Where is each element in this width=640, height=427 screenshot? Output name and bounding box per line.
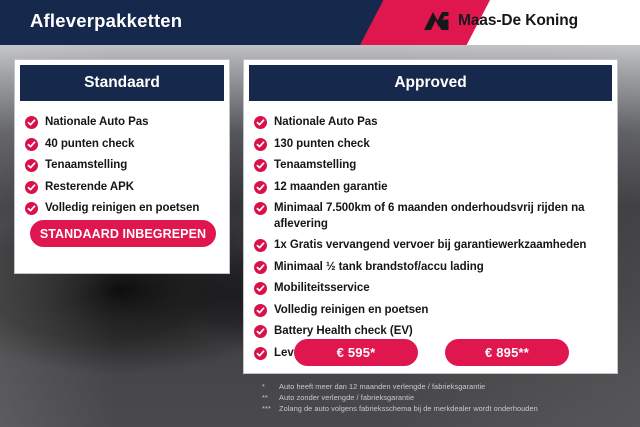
check-circle-icon bbox=[254, 202, 267, 215]
list-item: Minimaal ½ tank brandstof/accu lading bbox=[254, 260, 607, 276]
check-circle-icon bbox=[25, 181, 38, 194]
footnote-text: Auto heeft meer dan 12 maanden verlengde… bbox=[279, 381, 634, 392]
page-header: Afleverpakketten Maas-De Koning bbox=[0, 0, 640, 45]
maas-de-koning-m-mark-icon bbox=[422, 11, 450, 31]
list-item: 1x Gratis vervangend vervoer bij garanti… bbox=[254, 238, 607, 254]
check-circle-icon bbox=[254, 282, 267, 295]
footnote-double-asterisk: ** Auto zonder verlengde / fabrieksgaran… bbox=[262, 392, 634, 403]
list-item: Volledig reinigen en poetsen bbox=[25, 201, 219, 217]
card-title-approved: Approved bbox=[249, 65, 612, 101]
footnote-single-asterisk: * Auto heeft meer dan 12 maanden verleng… bbox=[262, 381, 634, 392]
feature-label: 1x Gratis vervangend vervoer bij garanti… bbox=[274, 238, 586, 254]
footnote-text: Auto zonder verlengde / fabrieksgarantie bbox=[279, 392, 634, 403]
feature-label: Resterende APK bbox=[45, 180, 134, 196]
package-card-approved: Approved Nationale Auto Pas 130 punten c… bbox=[243, 59, 618, 374]
package-card-standaard: Standaard Nationale Auto Pas 40 punten c… bbox=[14, 59, 230, 274]
feature-label: Volledig reinigen en poetsen bbox=[45, 201, 199, 217]
list-item: 40 punten check bbox=[25, 137, 219, 153]
feature-list-standaard: Nationale Auto Pas 40 punten check Tenaa… bbox=[15, 106, 229, 217]
list-item: Nationale Auto Pas bbox=[254, 115, 607, 131]
feature-label: Minimaal ½ tank brandstof/accu lading bbox=[274, 260, 484, 276]
check-circle-icon bbox=[254, 325, 267, 338]
check-circle-icon bbox=[25, 138, 38, 151]
feature-list-approved: Nationale Auto Pas 130 punten check Tena… bbox=[244, 106, 617, 361]
feature-label: 40 punten check bbox=[45, 137, 134, 153]
list-item: 12 maanden garantie bbox=[254, 180, 607, 196]
check-circle-icon bbox=[254, 159, 267, 172]
feature-label: Volledig reinigen en poetsen bbox=[274, 303, 428, 319]
price-button-595[interactable]: € 595* bbox=[294, 339, 418, 366]
feature-label: 12 maanden garantie bbox=[274, 180, 387, 196]
check-circle-icon bbox=[254, 261, 267, 274]
feature-label: Tenaamstelling bbox=[45, 158, 127, 174]
standaard-inbegrepen-button[interactable]: STANDAARD INBEGREPEN bbox=[30, 220, 216, 247]
afleverpakketten-page: Afleverpakketten Maas-De Koning Standaar… bbox=[0, 0, 640, 427]
feature-label: Nationale Auto Pas bbox=[274, 115, 377, 131]
feature-label: Nationale Auto Pas bbox=[45, 115, 148, 131]
footnote-text: Zolang de auto volgens fabrieksschema bi… bbox=[279, 403, 634, 414]
check-circle-icon bbox=[254, 138, 267, 151]
page-title: Afleverpakketten bbox=[30, 10, 182, 32]
check-circle-icon bbox=[254, 239, 267, 252]
brand-name: Maas-De Koning bbox=[458, 12, 578, 30]
feature-label: Minimaal 7.500km of 6 maanden onderhouds… bbox=[274, 201, 607, 232]
check-circle-icon bbox=[254, 181, 267, 194]
card-title-standaard: Standaard bbox=[20, 65, 224, 101]
feature-label: Battery Health check (EV) bbox=[274, 324, 413, 340]
feature-label: Mobiliteitsservice bbox=[274, 281, 370, 297]
check-circle-icon bbox=[25, 202, 38, 215]
list-item: 130 punten check bbox=[254, 137, 607, 153]
check-circle-icon bbox=[25, 159, 38, 172]
footnote-marker: * bbox=[262, 381, 279, 392]
feature-label: Tenaamstelling bbox=[274, 158, 356, 174]
check-circle-icon bbox=[254, 304, 267, 317]
list-item: Tenaamstelling bbox=[254, 158, 607, 174]
footnote-triple-asterisk: *** Zolang de auto volgens fabrieksschem… bbox=[262, 403, 634, 414]
check-circle-icon bbox=[25, 116, 38, 129]
list-item: Battery Health check (EV) bbox=[254, 324, 607, 340]
footnote-marker: *** bbox=[262, 403, 279, 414]
list-item: Resterende APK bbox=[25, 180, 219, 196]
list-item: Mobiliteitsservice bbox=[254, 281, 607, 297]
list-item: Tenaamstelling bbox=[25, 158, 219, 174]
list-item: Volledig reinigen en poetsen bbox=[254, 303, 607, 319]
list-item: Minimaal 7.500km of 6 maanden onderhouds… bbox=[254, 201, 607, 232]
footnote-marker: ** bbox=[262, 392, 279, 403]
price-button-895[interactable]: € 895** bbox=[445, 339, 569, 366]
brand-logo: Maas-De Koning bbox=[422, 11, 578, 31]
check-circle-icon bbox=[254, 116, 267, 129]
list-item: Nationale Auto Pas bbox=[25, 115, 219, 131]
price-button-row: € 595* € 895** bbox=[244, 339, 619, 366]
footnote-block: * Auto heeft meer dan 12 maanden verleng… bbox=[262, 381, 634, 414]
feature-label: 130 punten check bbox=[274, 137, 370, 153]
